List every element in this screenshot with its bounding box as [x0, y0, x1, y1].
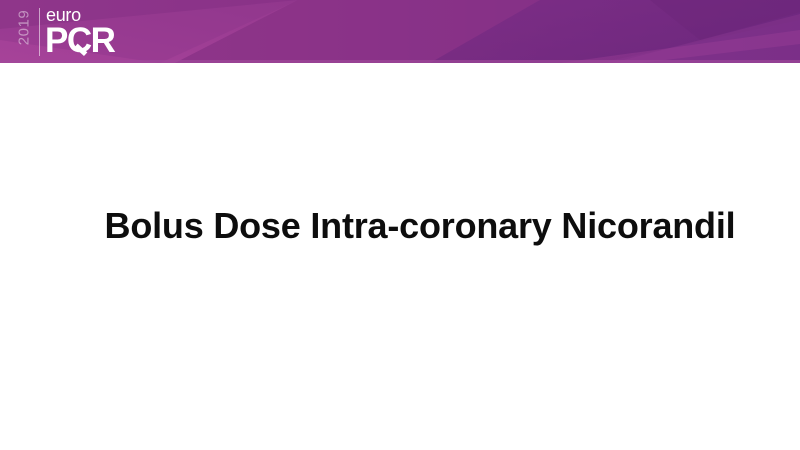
- slide-title-box: Bolus Dose Intra-coronary Nicorandil: [60, 196, 780, 256]
- page-title: Bolus Dose Intra-coronary Nicorandil: [105, 206, 736, 246]
- logo-year: 2019: [17, 4, 32, 52]
- logo-pcr-label: PCR: [45, 21, 114, 60]
- header-banner: 2019 euro PCR: [0, 0, 800, 63]
- logo-pcr-text: PCR: [45, 23, 114, 58]
- europcr-logo: 2019 euro PCR: [8, 4, 136, 60]
- slide: 2019 euro PCR Bolus Dose Intra-coronary …: [0, 0, 800, 450]
- logo-divider: [39, 8, 40, 56]
